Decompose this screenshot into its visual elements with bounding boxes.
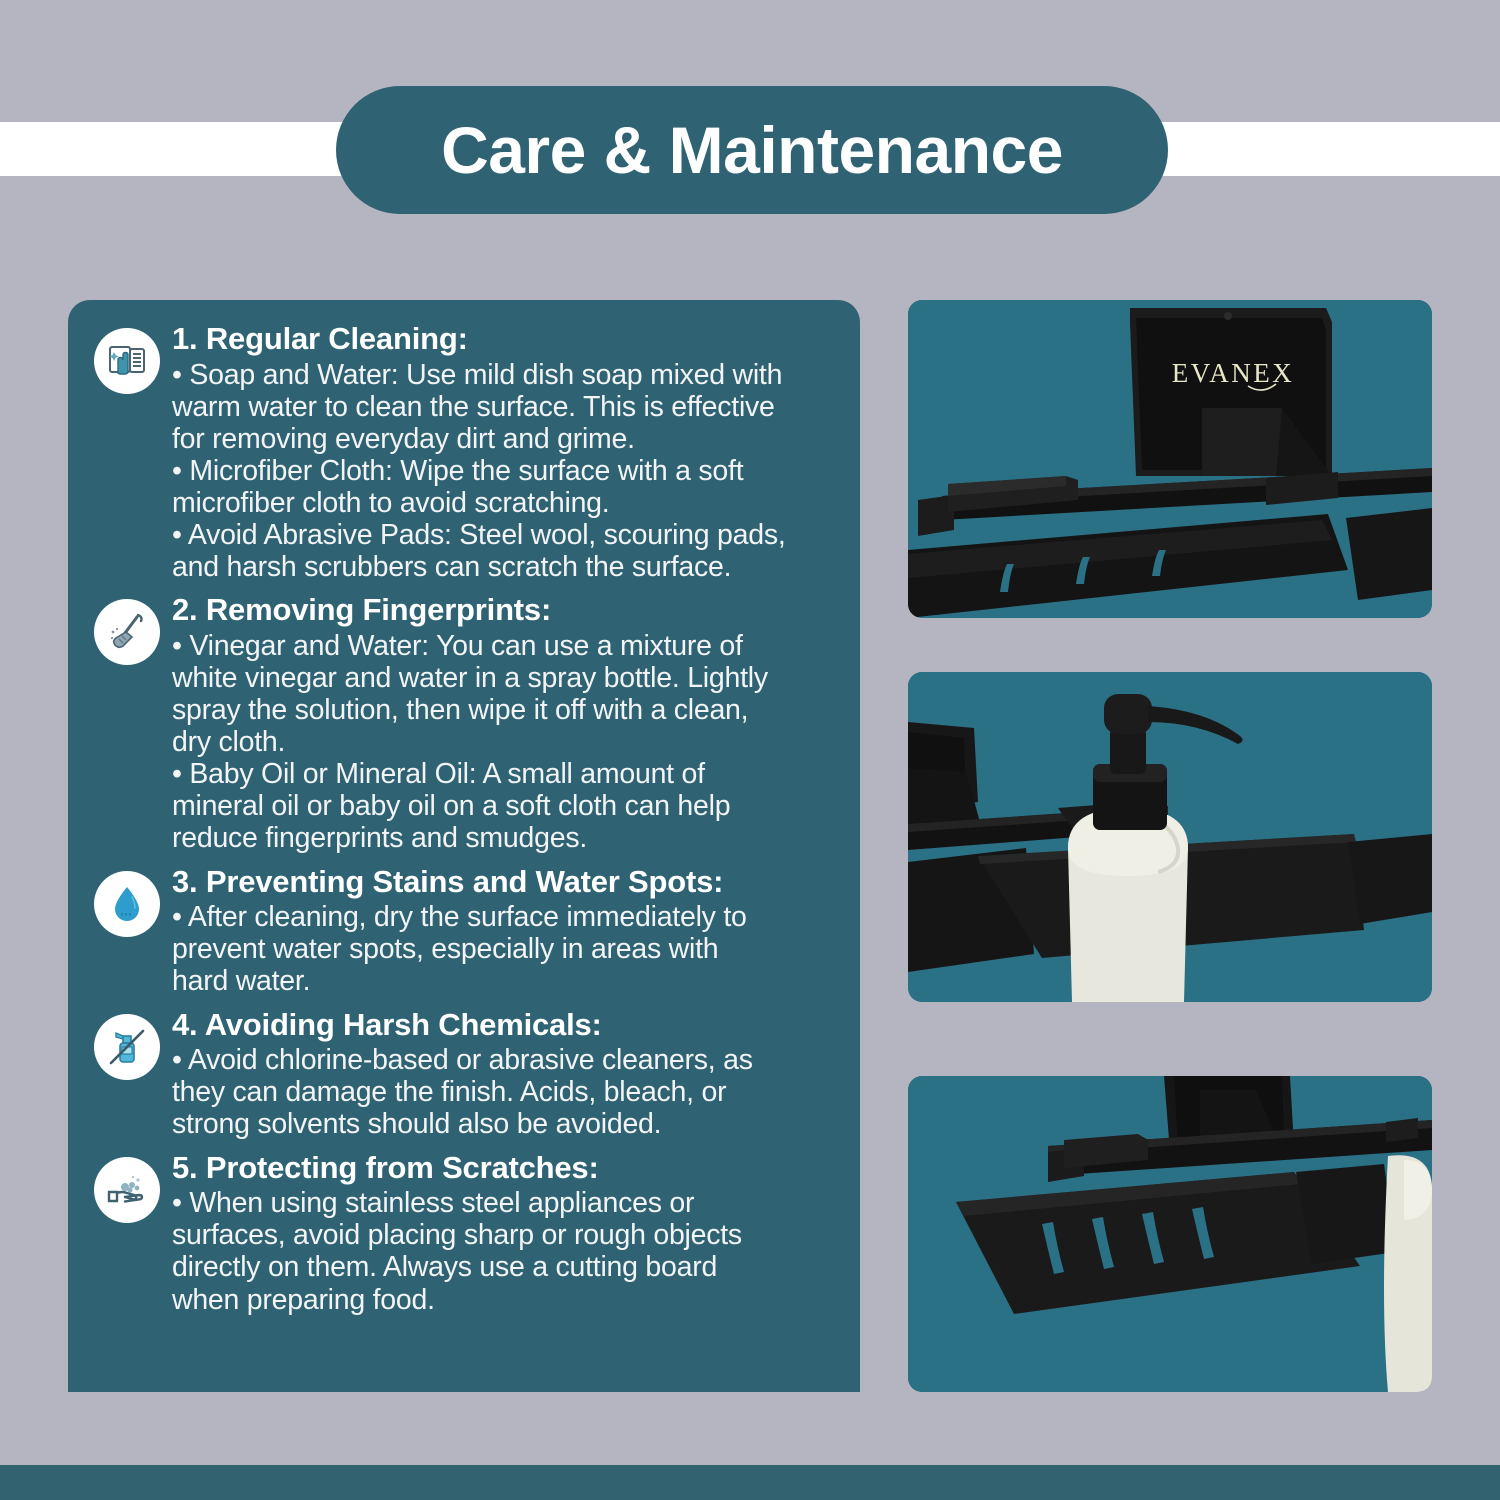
care-tip-line: • Vinegar and Water: You can use a mixtu…: [172, 630, 834, 662]
care-tip-line: dry cloth.: [172, 726, 834, 758]
care-tip-line: spray the solution, then wipe it off wit…: [172, 694, 834, 726]
care-tip-line: microfiber cloth to avoid scratching.: [172, 487, 834, 519]
hand-with-soap-icon: [94, 1157, 160, 1223]
care-tip-title: 1. Regular Cleaning:: [172, 320, 834, 358]
care-instructions-panel: 1. Regular Cleaning: • Soap and Water: U…: [68, 300, 860, 1392]
care-tip-line: strong solvents should also be avoided.: [172, 1108, 834, 1140]
care-tip-line: when preparing food.: [172, 1284, 834, 1316]
water-droplet-icon: [94, 871, 160, 937]
care-tip-line: prevent water spots, especially in areas…: [172, 933, 834, 965]
care-tip-item: 2. Removing Fingerprints: • Vinegar and …: [94, 591, 834, 854]
footer-bar: [0, 1465, 1500, 1500]
care-tip-body: 3. Preventing Stains and Water Spots: • …: [172, 863, 834, 998]
care-tip-line: • When using stainless steel appliances …: [172, 1187, 834, 1219]
product-photo-slotted-tray: [908, 1076, 1432, 1392]
care-tip-line: • Avoid Abrasive Pads: Steel wool, scour…: [172, 519, 834, 551]
care-tip-line: for removing everyday dirt and grime.: [172, 423, 834, 455]
care-tip-item: 5. Protecting from Scratches: • When usi…: [94, 1149, 834, 1316]
page-title-pill: Care & Maintenance: [336, 86, 1168, 214]
care-tip-line: • Baby Oil or Mineral Oil: A small amoun…: [172, 758, 834, 790]
care-tip-body: 4. Avoiding Harsh Chemicals: • Avoid chl…: [172, 1006, 834, 1141]
product-photo-soap-dispenser: [908, 672, 1432, 1002]
care-tip-title: 5. Protecting from Scratches:: [172, 1149, 834, 1187]
hand-wiping-surface-icon: [94, 328, 160, 394]
care-tip-line: they can damage the finish. Acids, bleac…: [172, 1076, 834, 1108]
care-tip-body: 1. Regular Cleaning: • Soap and Water: U…: [172, 320, 834, 583]
care-tip-item: 3. Preventing Stains and Water Spots: • …: [94, 863, 834, 998]
care-tip-line: and harsh scrubbers can scratch the surf…: [172, 551, 834, 583]
care-tip-line: • Microfiber Cloth: Wipe the surface wit…: [172, 455, 834, 487]
care-tip-line: • Soap and Water: Use mild dish soap mix…: [172, 359, 834, 391]
product-photo-bracket-with-logo: EVANEX: [908, 300, 1432, 618]
svg-text:EVANEX: EVANEX: [1172, 358, 1295, 388]
care-tip-line: hard water.: [172, 965, 834, 997]
care-tip-line: warm water to clean the surface. This is…: [172, 391, 834, 423]
care-tip-title: 3. Preventing Stains and Water Spots:: [172, 863, 834, 901]
care-tip-line: • Avoid chlorine-based or abrasive clean…: [172, 1044, 834, 1076]
care-tip-line: surfaces, avoid placing sharp or rough o…: [172, 1219, 834, 1251]
care-tip-title: 2. Removing Fingerprints:: [172, 591, 834, 629]
care-tip-item: 1. Regular Cleaning: • Soap and Water: U…: [94, 320, 834, 583]
care-tip-line: • After cleaning, dry the surface immedi…: [172, 901, 834, 933]
care-maintenance-page: Care & Maintenance 1. Regular Cleaning:: [0, 0, 1500, 1500]
care-tip-body: 5. Protecting from Scratches: • When usi…: [172, 1149, 834, 1316]
care-tip-line: white vinegar and water in a spray bottl…: [172, 662, 834, 694]
mop-icon: [94, 599, 160, 665]
care-tip-line: reduce fingerprints and smudges.: [172, 822, 834, 854]
page-title: Care & Maintenance: [441, 117, 1063, 183]
care-tip-title: 4. Avoiding Harsh Chemicals:: [172, 1006, 834, 1044]
care-tip-line: directly on them. Always use a cutting b…: [172, 1251, 834, 1283]
no-spray-bottle-icon: [94, 1014, 160, 1080]
care-tip-line: mineral oil or baby oil on a soft cloth …: [172, 790, 834, 822]
care-tip-body: 2. Removing Fingerprints: • Vinegar and …: [172, 591, 834, 854]
care-tip-item: 4. Avoiding Harsh Chemicals: • Avoid chl…: [94, 1006, 834, 1141]
